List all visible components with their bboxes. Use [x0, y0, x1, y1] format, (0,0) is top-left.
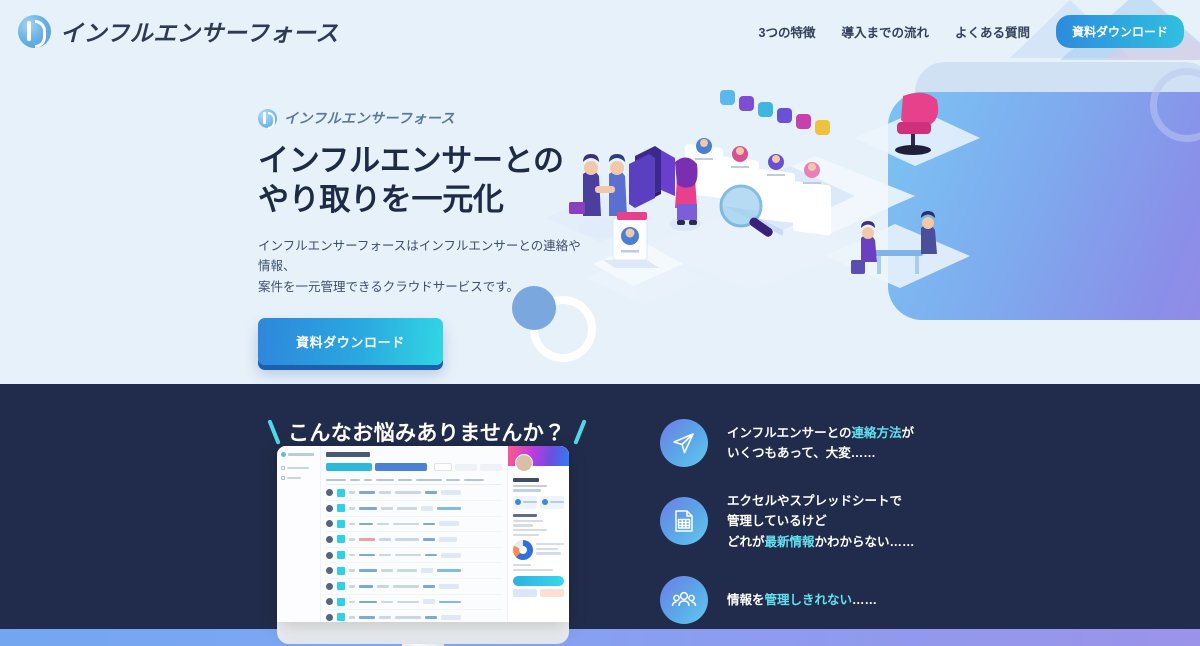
problems-section: こんなお悩みありませんか？ インフルエンサーとの連絡方法が いくつもあって、大変… — [0, 384, 1200, 629]
profile-action-card[interactable] — [540, 496, 564, 509]
table-row[interactable] — [326, 517, 502, 533]
logo-text: インフルエンサーフォース — [60, 14, 339, 48]
hero-illustration — [525, 78, 995, 308]
dashboard-toolbar — [326, 463, 502, 471]
table-row[interactable] — [326, 563, 502, 579]
spreadsheet-icon — [660, 497, 708, 545]
monitor-screen — [277, 446, 569, 622]
dashboard-screenshot — [277, 446, 569, 622]
profile-detail-line — [513, 529, 547, 531]
dashboard-sort-button[interactable] — [480, 464, 502, 471]
problems-list: インフルエンサーとの連絡方法が いくつもあって、大変…… エクセルやスプレッドシ… — [660, 419, 915, 629]
profile-detail-line — [513, 524, 533, 526]
list-item: インフルエンサーとの連絡方法が いくつもあって、大変…… — [660, 419, 915, 467]
problem-text: エクセルやスプレッドシートで 管理しているけど どれが最新情報かわからない…… — [727, 491, 915, 552]
dashboard-detail-panel — [507, 446, 569, 622]
monitor-chin — [277, 622, 569, 644]
table-row[interactable] — [326, 532, 502, 548]
dashboard-monitor-mockup — [277, 446, 569, 646]
dashboard-page-title — [326, 452, 370, 457]
people-group-icon — [660, 576, 708, 624]
profile-action-cards — [513, 496, 564, 509]
nav-item-faq[interactable]: よくある質問 — [955, 22, 1030, 41]
table-row[interactable] — [326, 610, 502, 622]
site-header: インフルエンサーフォース 3つの特徴 導入までの流れ よくある質問 資料ダウンロ… — [0, 0, 1200, 62]
problem-2-line1: エクセルやスプレッドシートで — [727, 494, 902, 508]
profile-secondary-ctas — [513, 589, 564, 597]
problem-1-line1-highlight: 連絡方法 — [852, 426, 902, 440]
list-item: エクセルやスプレッドシートで 管理しているけど どれが最新情報かわからない…… — [660, 491, 915, 552]
problem-1-line1-post: が — [902, 426, 915, 440]
dashboard-nav-item[interactable] — [281, 476, 316, 480]
table-row[interactable] — [326, 501, 502, 517]
influencer-force-mark-icon — [18, 15, 51, 48]
profile-cta-edit[interactable] — [513, 589, 537, 597]
dashboard-secondary-button[interactable] — [375, 463, 427, 471]
problems-heading-text: こんなお悩みありませんか？ — [288, 417, 566, 447]
slash-right-icon — [573, 419, 586, 445]
list-item: 情報を管理しきれない…… — [660, 576, 915, 624]
profile-banner — [508, 446, 569, 466]
landing-page: インフルエンサーフォース 3つの特徴 導入までの流れ よくある質問 資料ダウンロ… — [0, 0, 1200, 646]
stats-donut-chart — [513, 540, 533, 560]
header-download-button[interactable]: 資料ダウンロード — [1056, 15, 1184, 48]
dashboard-filter-button[interactable] — [455, 464, 477, 471]
problem-3-line1-highlight: 管理しきれない — [765, 593, 853, 607]
problem-1-line1-pre: インフルエンサーとの — [727, 426, 852, 440]
hero-title-line1: インフルエンサーとの — [258, 143, 564, 178]
profile-meta — [513, 489, 541, 491]
hero-brand-lockup: インフルエンサーフォース — [258, 108, 588, 128]
nav-item-features[interactable]: 3つの特徴 — [759, 22, 816, 41]
main-navigation: 3つの特徴 導入までの流れ よくある質問 資料ダウンロード — [759, 15, 1185, 48]
problem-2-line3-post: かわからない…… — [815, 535, 915, 549]
profile-name — [513, 478, 539, 482]
table-row[interactable] — [326, 579, 502, 595]
hero-subtitle-line2: 案件を一元管理できるクラウドサービスです。 — [258, 280, 519, 294]
problem-3-line1-pre: 情報を — [727, 593, 765, 607]
nav-item-flow[interactable]: 導入までの流れ — [841, 22, 929, 41]
paper-plane-icon — [660, 419, 708, 467]
hero-subtitle: インフルエンサーフォースはインフルエンサーとの連絡や情報、 案件を一元管理できる… — [258, 236, 588, 298]
profile-detail-line — [513, 520, 543, 522]
table-row[interactable] — [326, 548, 502, 564]
hero-copy: インフルエンサーフォース インフルエンサーとの やり取りを一元化 インフルエンサ… — [258, 108, 588, 365]
bottom-gradient-band — [0, 629, 1200, 646]
hero-title-line2: やり取りを一元化 — [258, 182, 504, 217]
dashboard-nav-item[interactable] — [281, 466, 316, 470]
hero-title: インフルエンサーとの やり取りを一元化 — [258, 141, 588, 220]
section-arrow-notch — [586, 613, 618, 629]
problem-2-line3-pre: どれが — [727, 535, 765, 549]
problem-1-line2: いくつもあって、大変…… — [727, 446, 876, 460]
dashboard-logo — [281, 452, 316, 457]
profile-primary-cta[interactable] — [513, 576, 564, 586]
table-header — [326, 476, 502, 485]
hero-eyebrow-text: インフルエンサーフォース — [284, 108, 455, 128]
profile-section-title — [513, 514, 537, 517]
hero-subtitle-line1: インフルエンサーフォースはインフルエンサーとの連絡や情報、 — [258, 239, 581, 274]
dashboard-main — [321, 446, 507, 622]
problem-2-line3-highlight: 最新情報 — [765, 535, 815, 549]
dashboard-primary-button[interactable] — [326, 463, 372, 471]
site-logo[interactable]: インフルエンサーフォース — [18, 14, 339, 48]
problem-text: 情報を管理しきれない…… — [727, 590, 877, 610]
problem-text: インフルエンサーとの連絡方法が いくつもあって、大変…… — [727, 423, 914, 464]
profile-action-card[interactable] — [513, 496, 537, 509]
problems-heading: こんなお悩みありませんか？ — [272, 417, 582, 447]
search-input[interactable] — [434, 463, 452, 471]
slash-left-icon — [267, 419, 280, 445]
dashboard-sidebar — [277, 446, 321, 622]
problem-2-line2: 管理しているけど — [727, 514, 827, 528]
influencer-force-mark-icon — [258, 109, 277, 128]
profile-cta-delete[interactable] — [540, 589, 564, 597]
profile-meta — [513, 485, 547, 487]
avatar — [515, 454, 533, 472]
table-row[interactable] — [326, 485, 502, 501]
hero-section: インフルエンサーフォース 3つの特徴 導入までの流れ よくある質問 資料ダウンロ… — [0, 0, 1200, 384]
problem-3-line1-post: …… — [852, 593, 877, 607]
hero-download-button[interactable]: 資料ダウンロード — [258, 318, 443, 365]
profile-detail-line — [513, 534, 539, 536]
table-row[interactable] — [326, 595, 502, 611]
